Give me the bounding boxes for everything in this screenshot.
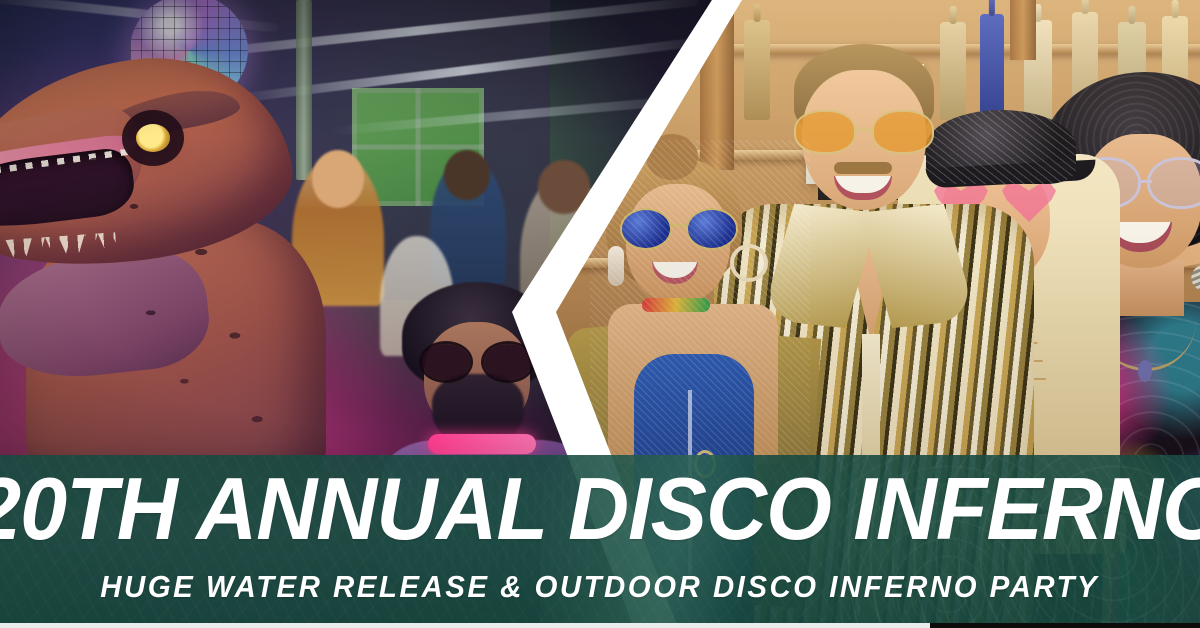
event-subheadline: HUGE WATER RELEASE & OUTDOOR DISCO INFER… (101, 571, 1100, 602)
title-banner: 20TH ANNUAL DISCO INFERNO HUGE WATER REL… (0, 455, 1200, 628)
bottom-edge-strip-dark (930, 623, 1200, 628)
bottom-edge-strip (0, 623, 930, 628)
event-poster: DI NO (0, 0, 1200, 628)
event-headline: 20TH ANNUAL DISCO INFERNO (0, 465, 1200, 553)
title-block: 20TH ANNUAL DISCO INFERNO HUGE WATER REL… (0, 455, 1200, 628)
